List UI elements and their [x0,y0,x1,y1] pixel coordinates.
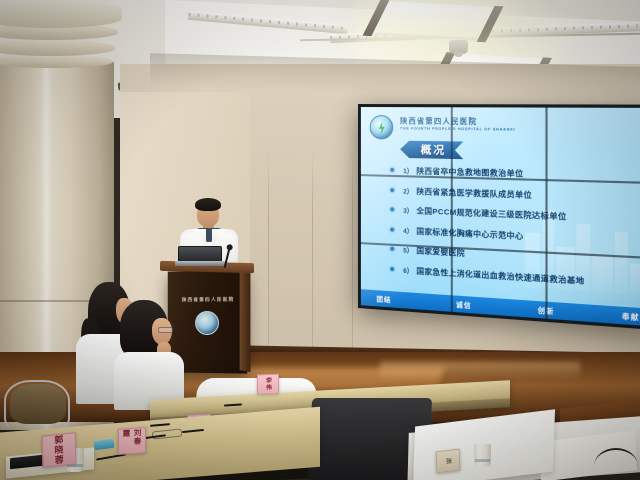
bullet-dot-icon [390,207,394,211]
slide-bullet-list: 1） 陕西省卒中急救地图救治单位 2） 陕西省紧急医学救援队成员单位 3） 全国… [390,165,637,299]
bullet-number: 6） [403,264,413,275]
bullet-dot-icon [390,247,394,251]
smoke-detector-icon [449,40,468,54]
footer-word: 团结 [376,293,391,304]
bullet-number: 4） [403,224,413,235]
bullet-dot-icon [390,168,394,172]
chair [2,378,74,436]
bullet-text: 国家急性上消化道出血救治快速通道救治基地 [416,265,584,287]
hospital-crest-icon [370,115,394,139]
video-wall-bezel [450,107,452,312]
list-item: 4） 国家标准化胸痛中心示范中心 [390,224,637,247]
slide-hospital-name-en: THE FOURTH PEOPLE'S HOSPITAL OF SHAANXI [400,126,515,131]
wall-panel-seam [268,150,269,365]
floor-reflection [380,362,580,380]
name-card: 张 [436,449,461,474]
wall-panel-seam [312,150,313,365]
bullet-dot-icon [390,227,394,231]
bullet-text: 国家标准化胸痛中心示范中心 [416,225,523,241]
bullet-text: 全国PCCM规范化建设三级医院达标单位 [416,205,566,222]
video-wall-screen[interactable]: 陕西省第四人民医院 THE FOURTH PEOPLE'S HOSPITAL O… [361,107,640,327]
list-item: 3） 全国PCCM规范化建设三级医院达标单位 [390,204,637,225]
column-ring [0,55,113,68]
presentation-slide: 陕西省第四人民医院 THE FOURTH PEOPLE'S HOSPITAL O… [361,107,640,327]
paper-cup [474,444,491,467]
slide-title-banner: 概况 [400,141,463,160]
bullet-dot-icon [390,266,394,270]
footer-word: 奉献 [622,310,640,322]
name-card-text: 郭晓蓉 [52,434,66,465]
podium-side [240,271,251,372]
bullet-number: 2） [403,185,413,196]
name-card: 刘春霞 [118,427,146,455]
name-card-text: 刘春霞 [121,428,143,454]
presenter-hair [195,198,221,211]
video-wall[interactable]: 陕西省第四人民医院 THE FOURTH PEOPLE'S HOSPITAL O… [358,104,640,331]
audience-member [112,300,184,408]
wall-panel-seam [352,150,353,365]
column-capital [0,0,122,28]
bullet-number: 3） [403,205,413,216]
conference-room-photo: 陕西省第四人民医院 THE FOURTH PEOPLE'S HOSPITAL O… [0,0,640,480]
name-card-text: 李伟 [264,377,273,391]
name-card: 郭晓蓉 [42,432,77,468]
list-item: 2） 陕西省紧急医学救援队成员单位 [390,184,637,203]
chair-frame [4,380,70,432]
light-tube [371,4,495,38]
list-item: 6） 国家急性上消化道出血救治快速通道救治基地 [390,263,637,289]
bullet-dot-icon [390,188,394,192]
slide-hospital-name-cn: 陕西省第四人民医院 [400,116,477,127]
video-wall-bezel [546,108,548,319]
laptop[interactable] [178,246,222,266]
podium-hospital-name: 陕西省第四人民医院 [177,297,239,303]
glasses-icon [158,327,173,333]
name-card: 李伟 [257,374,279,395]
column-ring [0,40,115,56]
bullet-text: 陕西省紧急医学救援队成员单位 [416,185,532,200]
laptop-screen [178,246,222,262]
fluorescent-light-icon [365,1,501,41]
hospital-crest-icon [195,311,219,335]
name-card-text: 张 [443,457,452,465]
slide-title-text: 概况 [400,141,463,160]
laptop-keyboard[interactable] [175,261,225,266]
bullet-number: 1） [403,165,413,175]
footer-word: 诚信 [456,299,472,310]
